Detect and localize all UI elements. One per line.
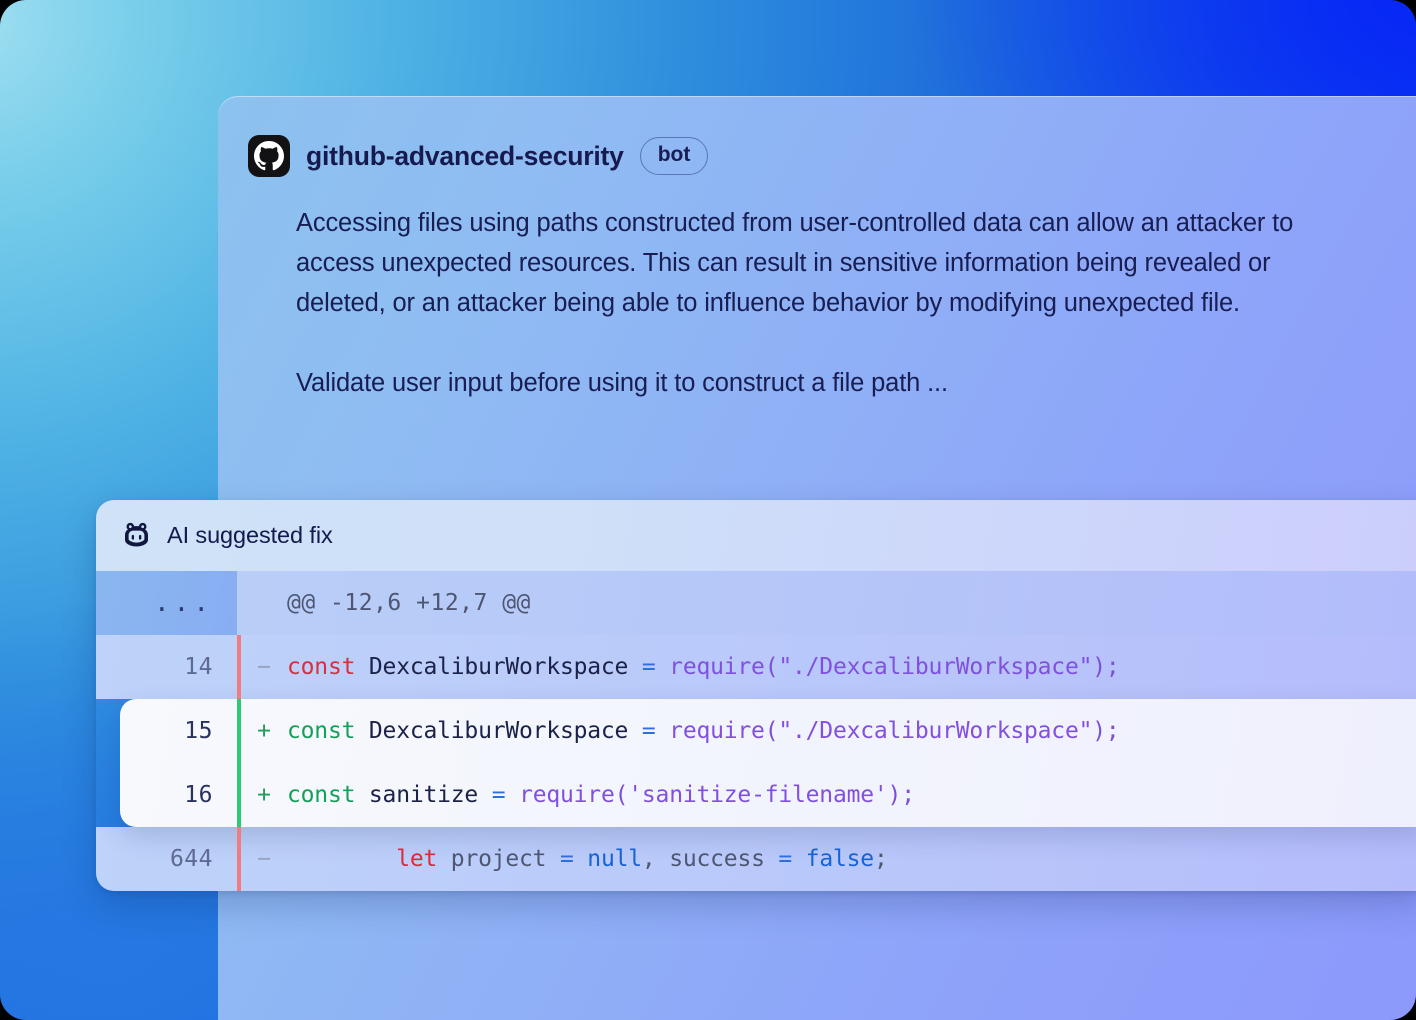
code-token: = xyxy=(642,654,656,680)
code-token: DexcaliburWorkspace xyxy=(369,654,628,680)
code-token: require xyxy=(519,782,615,808)
comment-body: Accessing files using paths constructed … xyxy=(218,177,1328,403)
code-token xyxy=(355,654,369,680)
bot-badge: bot xyxy=(640,137,709,174)
code-token xyxy=(765,846,779,872)
ai-suggested-fix-card: AI suggested fix ... @@ -12,6 +12,7 @@ 1… xyxy=(96,500,1416,891)
diff-sign-deletion: − xyxy=(241,846,287,872)
diff-code-line: let project = null, success = false; xyxy=(287,846,1416,872)
code-token: DexcaliburWorkspace xyxy=(369,718,628,744)
code-token xyxy=(437,846,451,872)
code-token: let xyxy=(396,846,437,872)
code-token: sanitize xyxy=(369,782,478,808)
ai-suggested-fix-title: AI suggested fix xyxy=(167,522,333,549)
diff-sign-deletion: − xyxy=(241,654,287,680)
alert-description-paragraph-2: Validate user input before using it to c… xyxy=(296,363,1328,403)
code-token: const xyxy=(287,782,355,808)
diff-expand-ellipsis[interactable]: ... xyxy=(96,571,237,635)
code-token: const xyxy=(287,654,355,680)
code-token xyxy=(355,782,369,808)
code-token: null xyxy=(587,846,642,872)
code-token: ) xyxy=(888,782,902,808)
code-token: ; xyxy=(1106,654,1120,680)
diff-hunk-text: @@ -12,6 +12,7 @@ xyxy=(287,590,1416,616)
code-token: = xyxy=(778,846,792,872)
diff-marker xyxy=(237,571,241,635)
code-token xyxy=(792,846,806,872)
diff-line-number: 644 xyxy=(96,846,237,872)
diff-sign-addition: + xyxy=(241,718,287,744)
diff-code-line: const DexcaliburWorkspace = require("./D… xyxy=(287,654,1416,680)
code-token: @@ -12,6 +12,7 @@ xyxy=(287,590,531,616)
code-token: ( xyxy=(765,718,779,744)
code-token xyxy=(628,718,642,744)
diff-row[interactable]: 14 − const DexcaliburWorkspace = require… xyxy=(96,635,1416,699)
code-token: , xyxy=(642,846,656,872)
diff-sign-addition: + xyxy=(241,782,287,808)
diff-code-line: const DexcaliburWorkspace = require("./D… xyxy=(287,718,1416,744)
copilot-icon xyxy=(121,520,152,551)
code-token xyxy=(656,654,670,680)
diff-hunk-row[interactable]: ... @@ -12,6 +12,7 @@ xyxy=(96,571,1416,635)
code-token xyxy=(478,782,492,808)
ai-suggested-fix-header: AI suggested fix xyxy=(96,500,1416,571)
code-token: "./DexcaliburWorkspace" xyxy=(778,718,1092,744)
code-token xyxy=(656,718,670,744)
code-token: require xyxy=(669,654,765,680)
code-token xyxy=(505,782,519,808)
diff-line-number: 15 xyxy=(96,718,237,744)
code-token: ; xyxy=(901,782,915,808)
code-token: success xyxy=(669,846,765,872)
code-token: ) xyxy=(1092,654,1106,680)
code-token xyxy=(355,718,369,744)
code-token: ( xyxy=(615,782,629,808)
diff-line-number: 14 xyxy=(96,654,237,680)
code-token xyxy=(628,654,642,680)
code-token: ) xyxy=(1092,718,1106,744)
comment-header: github-advanced-security bot xyxy=(218,96,1416,177)
code-token: project xyxy=(451,846,547,872)
code-token: require xyxy=(669,718,765,744)
github-mark-icon xyxy=(248,135,290,177)
code-token: false xyxy=(806,846,874,872)
code-token: "./DexcaliburWorkspace" xyxy=(778,654,1092,680)
screenshot-canvas: github-advanced-security bot Accessing f… xyxy=(0,0,1416,1020)
code-token xyxy=(287,846,396,872)
alert-description-paragraph-1: Accessing files using paths constructed … xyxy=(296,203,1328,323)
diff-line-number: 16 xyxy=(96,782,237,808)
code-token: const xyxy=(287,718,355,744)
code-token: = xyxy=(492,782,506,808)
code-token: = xyxy=(642,718,656,744)
code-token: = xyxy=(560,846,574,872)
code-token xyxy=(574,846,588,872)
code-token: 'sanitize-filename' xyxy=(628,782,887,808)
code-token: ( xyxy=(765,654,779,680)
code-token xyxy=(656,846,670,872)
comment-author-name[interactable]: github-advanced-security xyxy=(306,141,624,172)
diff-code-line: const sanitize = require('sanitize-filen… xyxy=(287,782,1416,808)
diff-row[interactable]: 644 − let project = null, success = fals… xyxy=(96,827,1416,891)
diff-view: ... @@ -12,6 +12,7 @@ 14 − const Dexcali… xyxy=(96,571,1416,891)
code-token: ; xyxy=(874,846,888,872)
code-token xyxy=(546,846,560,872)
code-token: ; xyxy=(1106,718,1120,744)
